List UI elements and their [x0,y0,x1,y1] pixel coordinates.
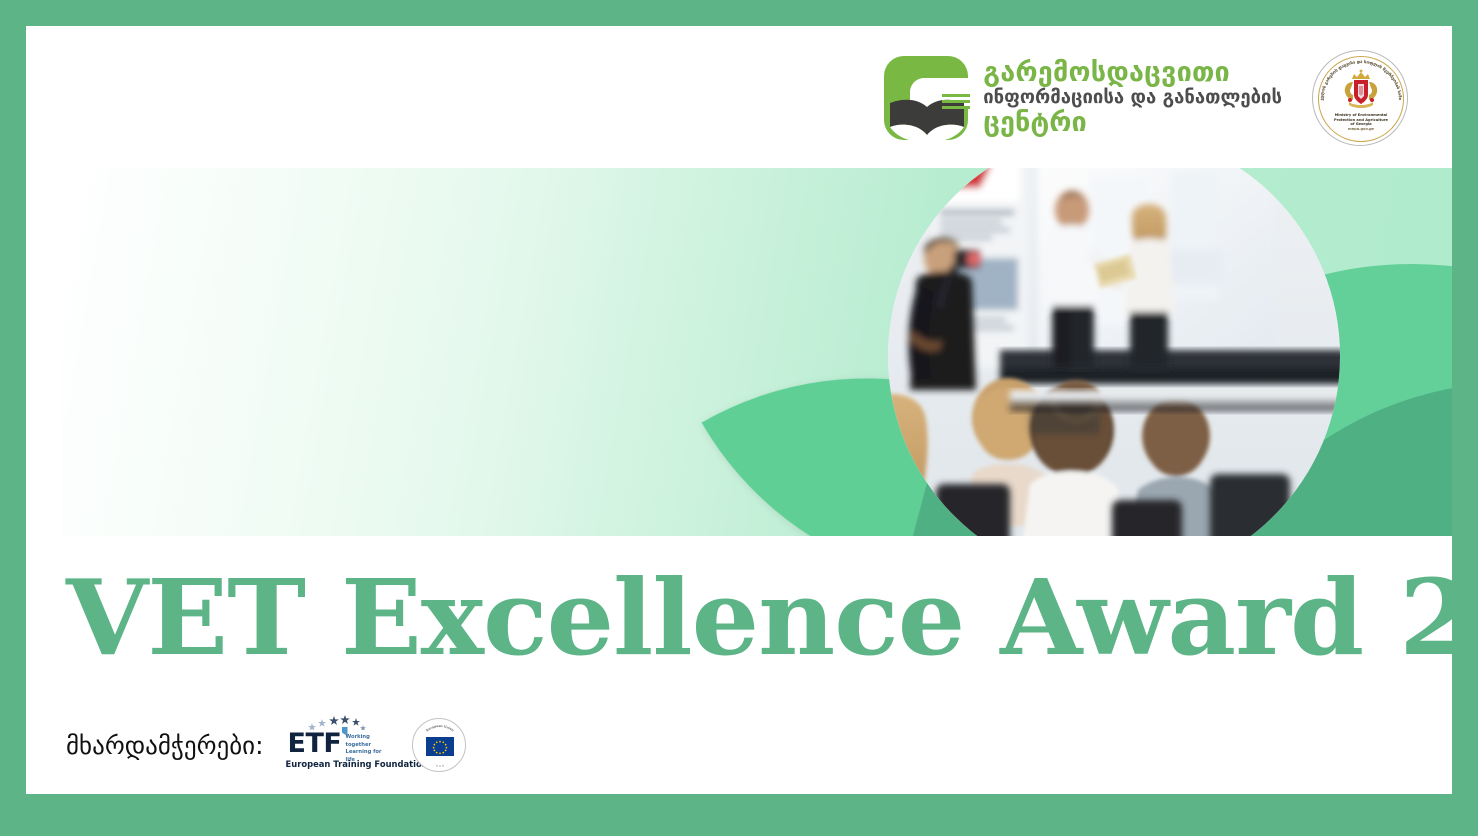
coat-of-arms-icon [1337,69,1385,113]
etf-wordmark: ETF [288,728,342,759]
european-union-badge-icon: European Union ★ ★ ★ [412,718,466,772]
seal-caption-line-4: mepa.gov.ge [1313,127,1408,132]
supporters-label: მხარდამჭერები: [66,731,264,760]
svg-text:★ ★ ★: ★ ★ ★ [435,763,445,768]
eiec-line-1: გარემოსდაცვითი [983,59,1282,87]
hero-photo [888,168,1340,536]
hero-banner [62,168,1452,536]
logo-bars-icon [942,94,970,108]
seal-caption: Ministry of Environmental Protection and… [1313,113,1408,132]
etf-full-name: European Training Foundation [286,759,390,769]
open-book-leaf-logo-icon [880,52,972,144]
supporters-row: მხარდამჭერები: [66,714,466,776]
poster-root: გარემოსდაცვითი ინფორმაციისა და განათლები… [0,0,1478,836]
etf-tagline-line-1: Working together [346,734,390,749]
eiec-line-3: ცენტრი [983,109,1282,137]
eu-badge-arc-top: European Union [425,724,454,732]
poster-page: გარემოსდაცვითი ინფორმაციისა და განათლები… [26,26,1452,794]
eiec-logo-text: გარემოსდაცვითი ინფორმაციისა და განათლები… [983,59,1282,136]
header-strip: გარემოსდაცვითი ინფორმაციისა და განათლები… [26,26,1452,168]
eiec-logo: გარემოსდაცვითი ინფორმაციისა და განათლები… [880,52,1282,144]
ministry-coat-of-arms-seal-icon: საქართველოს გარემოს დაცვისა და სოფლის მე… [1312,50,1408,146]
svg-text:European Union: European Union [425,724,454,732]
eiec-line-2: ინფორმაციისა და განათლების [983,88,1282,107]
etf-logo-icon: ETF Working together Learning for life E… [286,714,390,776]
page-title: VET Excellence Award 2022 [66,566,1443,670]
header-logo-group: გარემოსდაცვითი ინფორმაციისა და განათლები… [880,50,1408,146]
eu-flag-icon [426,737,454,756]
hero-photo-mask [888,168,1340,536]
